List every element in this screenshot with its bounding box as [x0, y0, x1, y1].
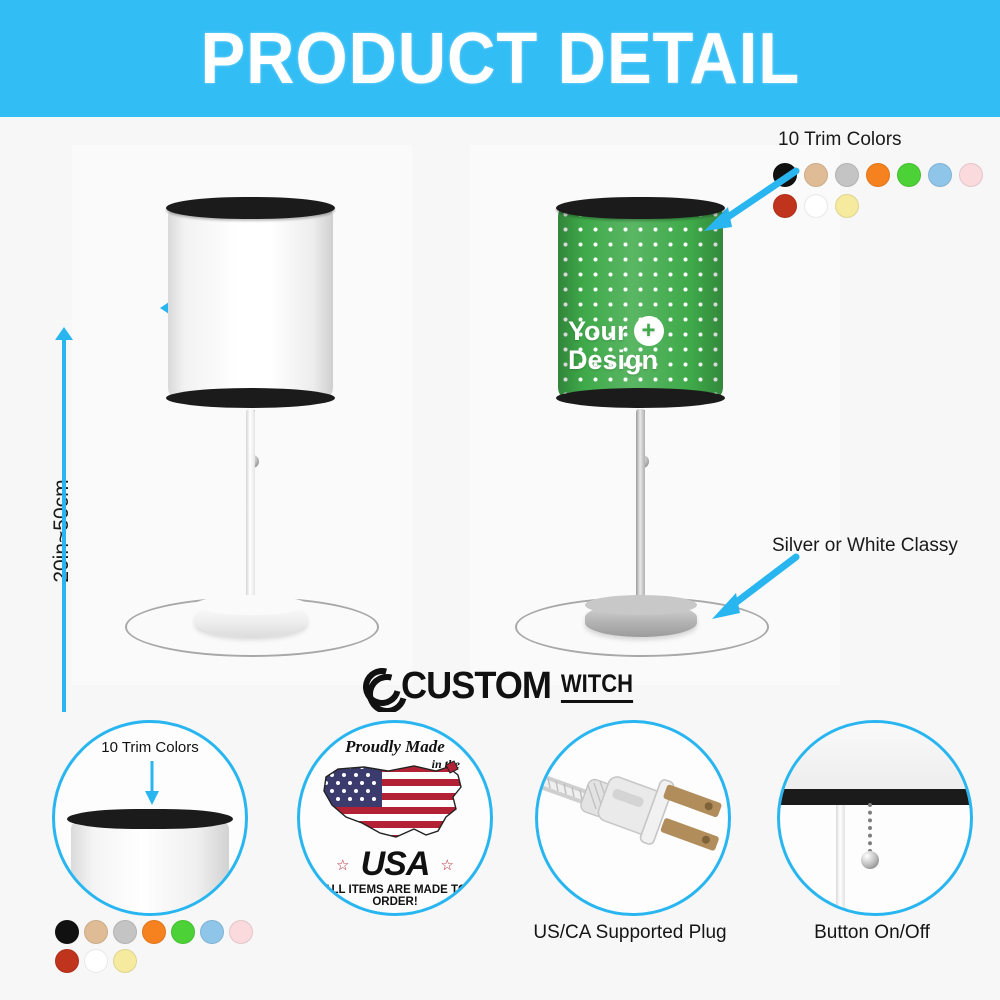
shade-trim-closeup [777, 789, 973, 805]
trim-swatch-light-blue[interactable] [200, 920, 224, 944]
shade-body: Your + Design [558, 207, 723, 397]
design-line-2: Design [568, 346, 718, 375]
feature-circle: 10 Trim Colors [52, 720, 248, 916]
shade-trim-top [166, 197, 335, 219]
pull-chain-closeup[interactable] [868, 803, 872, 853]
usa-badge-big-text: USA [300, 845, 490, 884]
feature-caption: US/CA Supported Plug [510, 922, 750, 944]
trim-swatch-orange[interactable] [142, 920, 166, 944]
trim-swatch-light-blue[interactable] [928, 163, 952, 187]
usa-map-flag-icon [318, 757, 472, 849]
usa-badge-sub-text: ALL ITEMS ARE MADE TO ORDER! [300, 884, 490, 908]
feature-caption: Button On/Off [752, 922, 992, 944]
brand-logo: CUSTOM WITCH [0, 660, 1000, 712]
trim-colors-title: 10 Trim Colors [778, 129, 902, 151]
lamp-stem-closeup [836, 805, 845, 915]
trim-swatch-tan[interactable] [84, 920, 108, 944]
trim-swatch-pink[interactable] [229, 920, 253, 944]
power-plug-icon [538, 723, 728, 913]
trim-swatch-white[interactable] [84, 949, 108, 973]
down-arrow-icon [143, 761, 161, 807]
logo-main-text: CUSTOM [400, 665, 550, 708]
usa-badge: Proudly Made in the [300, 723, 490, 913]
trim-swatch-gray[interactable] [835, 163, 859, 187]
page-title: PRODUCT DETAIL [200, 18, 800, 100]
page-header-banner: PRODUCT DETAIL [0, 0, 1000, 117]
trim-swatch-yellow[interactable] [113, 949, 137, 973]
shade-body [168, 207, 333, 397]
shade-trim-bottom [556, 388, 725, 408]
trim-swatch-red[interactable] [55, 949, 79, 973]
trim-swatch-black[interactable] [55, 920, 79, 944]
lamp-base-top [195, 595, 307, 615]
trim-swatch-pink[interactable] [959, 163, 983, 187]
trim-swatch-white[interactable] [804, 194, 828, 218]
feature-circle [777, 720, 973, 916]
feature-circle [535, 720, 731, 916]
trim-colors-note: 10 Trim Colors [55, 739, 245, 756]
usa-badge-top-text: Proudly Made [300, 737, 490, 757]
trim-swatch-yellow[interactable] [835, 194, 859, 218]
trim-arrow-icon [694, 163, 804, 233]
your-design-artwork: Your + Design [568, 316, 718, 375]
pull-chain-ball-closeup[interactable] [861, 851, 879, 869]
shade-trim-top [556, 197, 725, 219]
trim-swatch-gray[interactable] [113, 920, 137, 944]
product-detail-page: PRODUCT DETAIL 7in~18cm 20in~50cm [0, 0, 1000, 1000]
trim-swatch-tan[interactable] [804, 163, 828, 187]
trim-swatch-green[interactable] [897, 163, 921, 187]
trim-color-swatches-bottom[interactable] [55, 920, 270, 973]
trim-color-swatches[interactable] [773, 163, 1000, 218]
design-line-1: Your [568, 317, 628, 346]
logo-c-mark-icon [363, 666, 401, 706]
plus-icon: + [634, 316, 664, 346]
star-icon-right: ☆ [441, 856, 454, 874]
shade-trim-bottom [166, 388, 335, 408]
white-lamp [160, 197, 410, 647]
feature-row: 10 Trim Colors Proudly Made in the [0, 712, 1000, 1000]
logo-sub-text: WITCH [560, 670, 632, 703]
lamp-base-top [585, 595, 697, 615]
base-finish-arrow-icon [700, 547, 810, 627]
trim-swatch-orange[interactable] [866, 163, 890, 187]
main-showcase: 7in~18cm 20in~50cm [0, 117, 1000, 707]
trim-closeup [67, 809, 233, 916]
shade-closeup [777, 720, 973, 791]
feature-circle: Proudly Made in the [297, 720, 493, 916]
trim-swatch-green[interactable] [171, 920, 195, 944]
lamp-shade-white [168, 197, 333, 402]
